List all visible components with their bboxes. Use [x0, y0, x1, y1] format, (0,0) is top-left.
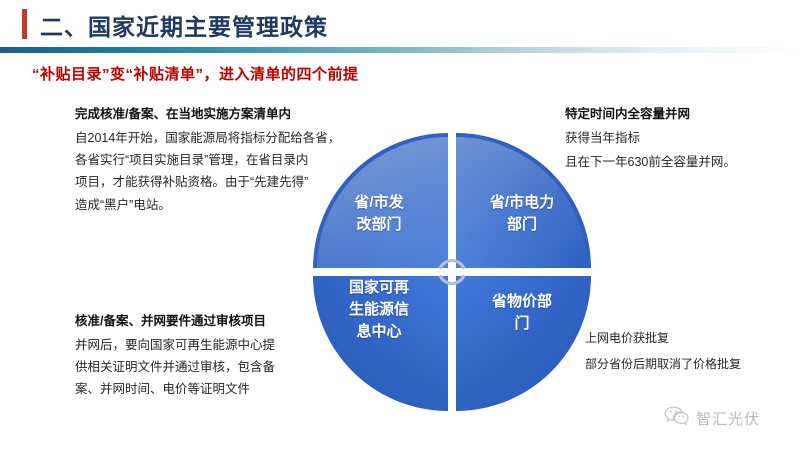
text-block-top-right-heading: 特定时间内全容量并网 [565, 105, 800, 124]
quadrant-label-line: 息中心 [313, 321, 445, 343]
watermark-text: 智汇光伏 [696, 408, 760, 429]
paragraph-line: 获得当年指标 [565, 127, 800, 151]
paragraph-line: 上网电价获批复 [585, 325, 800, 351]
text-block-top-right-body: 获得当年指标 且在下一年630前全容量并网。 [565, 127, 800, 175]
page-title: 二、国家近期主要管理政策 [40, 8, 328, 42]
slide-header: 二、国家近期主要管理政策 [0, 0, 800, 52]
text-block-top-right: 特定时间内全容量并网 获得当年指标 且在下一年630前全容量并网。 [565, 105, 800, 174]
text-block-bottom-right-body: 上网电价获批复 部分省份后期取消了价格批复 [585, 325, 800, 378]
paragraph-line: 部分省份后期取消了价格批复 [585, 351, 800, 377]
text-block-top-left-heading: 完成核准/备案、在当地实施方案清单内 [75, 105, 360, 124]
quadrant-label-line: 省/市发 [313, 192, 445, 214]
quadrant-label-line: 省/市电力 [456, 192, 588, 214]
paragraph-line: 且在下一年630前全容量并网。 [565, 151, 800, 175]
center-rotation-arrows-icon [434, 254, 470, 290]
slide-root: 二、国家近期主要管理政策 “补贴目录”变“补贴清单”，进入清单的四个前提 完成核… [0, 0, 800, 450]
quadrant-label-top-left: 省/市发 改部门 [313, 192, 445, 236]
header-divider [0, 47, 800, 53]
quadrant-label-line: 改部门 [313, 214, 445, 236]
slide-subtitle: “补贴目录”变“补贴清单”，进入清单的四个前提 [32, 63, 359, 84]
quadrant-circle-diagram [313, 133, 591, 411]
quadrant-label-line: 国家可再 [313, 277, 445, 299]
header-accent-bar [22, 9, 27, 39]
watermark: 智汇光伏 [664, 406, 760, 431]
wechat-icon [664, 406, 690, 431]
quadrant-label-bottom-left: 国家可再 生能源信 息中心 [313, 277, 445, 342]
quadrant-label-top-right: 省/市电力 部门 [456, 192, 588, 236]
quadrant-label-line: 省物价部 [456, 291, 588, 313]
quadrant-label-line: 门 [456, 313, 588, 335]
quadrant-label-bottom-right: 省物价部 门 [456, 291, 588, 335]
quadrant-label-line: 部门 [456, 214, 588, 236]
text-block-bottom-right: 上网电价获批复 部分省份后期取消了价格批复 [585, 325, 800, 378]
quadrant-label-line: 生能源信 [313, 299, 445, 321]
